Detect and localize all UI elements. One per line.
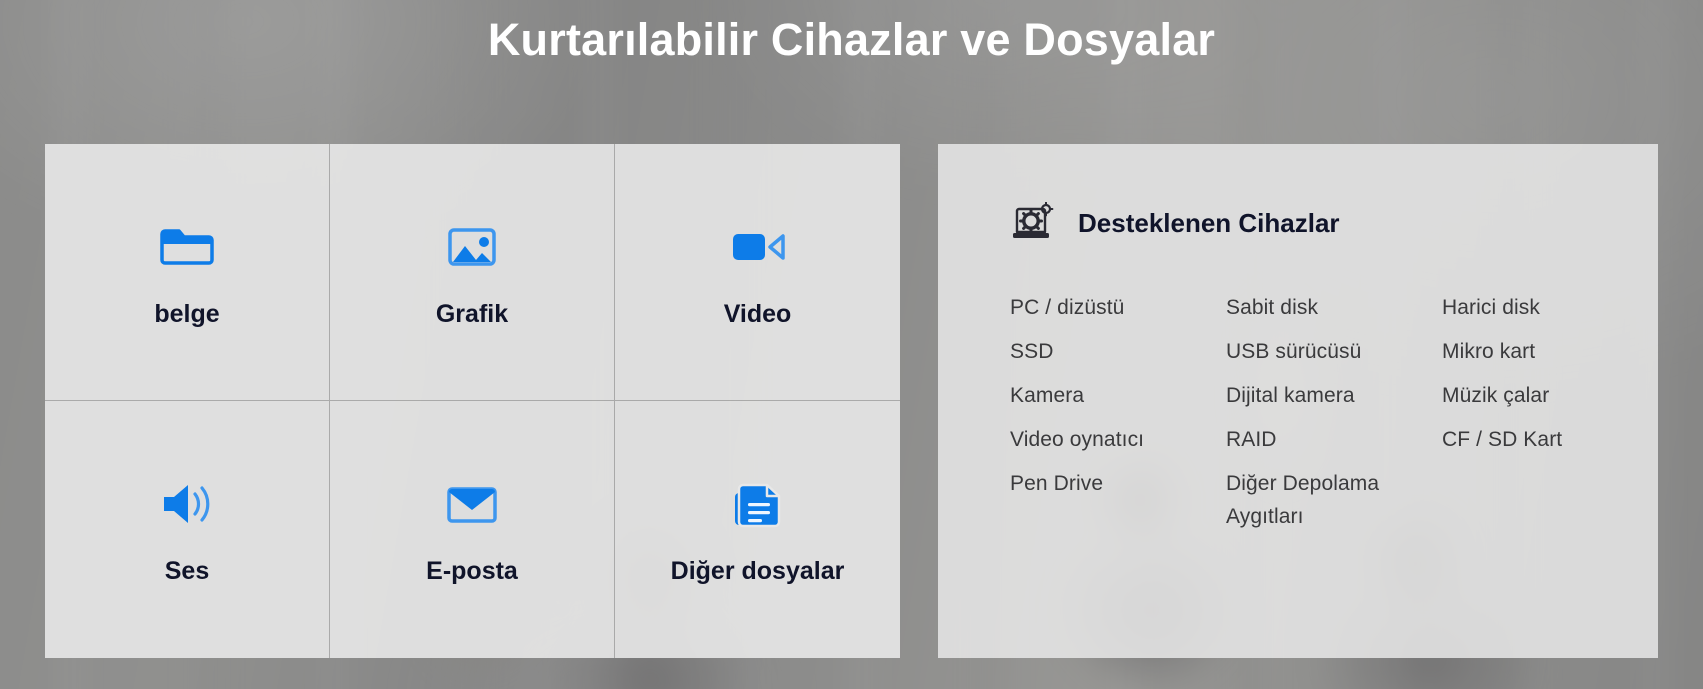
device-item: Sabit disk	[1226, 286, 1442, 330]
device-item: PC / dizüstü	[1010, 286, 1226, 330]
folder-icon	[156, 216, 218, 278]
device-item: Pen Drive	[1010, 462, 1226, 506]
file-type-tile-email[interactable]: E-posta	[330, 401, 615, 658]
device-column-2: Sabit disk USB sürücüsü Dijital kamera R…	[1226, 286, 1442, 538]
device-item: Video oynatıcı	[1010, 418, 1226, 462]
file-type-label: Grafik	[436, 300, 508, 329]
laptop-gear-icon	[1010, 202, 1056, 244]
file-type-tile-audio[interactable]: Ses	[45, 401, 330, 658]
file-type-label: E-posta	[426, 557, 518, 586]
device-item: CF / SD Kart	[1442, 418, 1658, 462]
supported-devices-panel: Desteklenen Cihazlar PC / dizüstü SSD Ka…	[938, 144, 1658, 658]
device-item: RAID	[1226, 418, 1442, 462]
supported-devices-title: Desteklenen Cihazlar	[1078, 208, 1340, 239]
device-item: Dijital kamera	[1226, 374, 1442, 418]
device-column-3: Harici disk Mikro kart Müzik çalar CF / …	[1442, 286, 1658, 538]
file-type-label: Ses	[165, 557, 209, 586]
supported-devices-header: Desteklenen Cihazlar	[1010, 202, 1658, 244]
page-root: Kurtarılabilir Cihazlar ve Dosyalar belg…	[0, 0, 1703, 689]
image-icon	[441, 216, 503, 278]
supported-devices-columns: PC / dizüstü SSD Kamera Video oynatıcı P…	[1010, 286, 1658, 538]
device-item: SSD	[1010, 330, 1226, 374]
speaker-icon	[156, 473, 218, 535]
device-item: Diğer Depolama Aygıtları	[1226, 462, 1406, 538]
file-type-label: belge	[154, 300, 219, 329]
file-type-label: Diğer dosyalar	[671, 557, 845, 586]
device-item: Harici disk	[1442, 286, 1658, 330]
video-camera-icon	[727, 216, 789, 278]
envelope-icon	[441, 473, 503, 535]
device-item: Kamera	[1010, 374, 1226, 418]
page-title: Kurtarılabilir Cihazlar ve Dosyalar	[0, 14, 1703, 66]
file-type-tile-document[interactable]: belge	[45, 144, 330, 401]
file-type-label: Video	[724, 300, 792, 329]
file-type-tile-graphic[interactable]: Grafik	[330, 144, 615, 401]
device-item: Mikro kart	[1442, 330, 1658, 374]
device-item: Müzik çalar	[1442, 374, 1658, 418]
file-type-tile-other[interactable]: Diğer dosyalar	[615, 401, 900, 658]
file-type-grid: belge Grafik Video	[45, 144, 900, 658]
documents-icon	[727, 473, 789, 535]
device-column-1: PC / dizüstü SSD Kamera Video oynatıcı P…	[1010, 286, 1226, 538]
file-type-tile-video[interactable]: Video	[615, 144, 900, 401]
device-item: USB sürücüsü	[1226, 330, 1442, 374]
